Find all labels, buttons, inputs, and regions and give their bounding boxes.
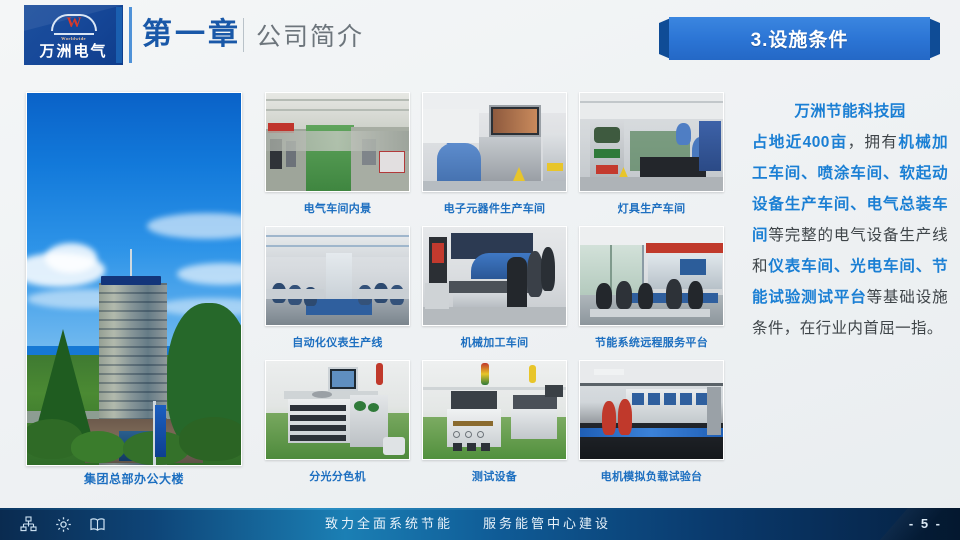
caption-motor-load-test-bench: 电机模拟负载试验台 (579, 468, 724, 484)
section-tab-body: 3.设施条件 (669, 17, 930, 60)
caption-remote-service-platform: 节能系统远程服务平台 (579, 334, 724, 350)
footer-slogan-left: 致力全面系统节能 (325, 508, 453, 540)
footer-top-stripe (0, 508, 960, 510)
page-subtitle: 公司简介 (256, 16, 364, 58)
body-paragraph: 万洲节能科技园占地近400亩，拥有机械加工车间、喷涂车间、软起动设备生产车间、电… (752, 96, 948, 486)
photo-automated-instrument-line (265, 226, 410, 326)
caption-spectrophotometer: 分光分色机 (265, 468, 410, 484)
section-tab: 3.设施条件 (659, 17, 940, 60)
caption-lighting-workshop: 灯具生产车间 (579, 200, 724, 216)
body-lead-line: 万洲节能科技园 (752, 96, 948, 127)
photo-motor-load-test-bench (579, 360, 724, 460)
photo-electrical-workshop (265, 92, 410, 192)
photo-lighting-workshop (579, 92, 724, 192)
caption-test-equipment: 测试设备 (422, 468, 567, 484)
photo-spectrophotometer (265, 360, 410, 460)
company-logo: W Worldwide 万洲电气 (24, 5, 123, 65)
gear-icon[interactable] (55, 516, 72, 533)
body-seg-1: ，拥有 (848, 134, 899, 151)
slide-footer: 致力全面系统节能 服务能管中心建设 - 5 - (0, 508, 960, 540)
photo-test-equipment (422, 360, 567, 460)
header-divider (243, 18, 244, 52)
photo-electronic-components-workshop (422, 92, 567, 192)
logo-w-letter: W (51, 15, 97, 32)
chapter-title: 第一章 (142, 13, 241, 57)
logo-company-name: 万洲电气 (39, 44, 107, 59)
caption-electronic-components-workshop: 电子元器件生产车间 (422, 200, 567, 216)
photo-machining-workshop (422, 226, 567, 326)
body-seg-0: 占地近400亩 (752, 134, 848, 151)
caption-headquarters-building: 集团总部办公大楼 (26, 470, 242, 487)
header-accent-bar-thin (129, 7, 132, 63)
caption-automated-instrument-line: 自动化仪表生产线 (265, 334, 410, 350)
book-icon[interactable] (89, 516, 106, 533)
caption-machining-workshop: 机械加工车间 (422, 334, 567, 350)
section-tab-label: 3.设施条件 (751, 25, 849, 52)
photo-headquarters-building (26, 92, 242, 466)
page-number: - 5 - (909, 508, 942, 540)
footer-slogan-right: 服务能管中心建设 (483, 508, 611, 540)
header-accent-bar-thick (116, 7, 122, 63)
photo-remote-service-platform (579, 226, 724, 326)
sitemap-icon[interactable] (20, 516, 37, 533)
slide-root: W Worldwide 万洲电气 第一章 公司简介 3.设施条件 (0, 0, 960, 540)
caption-electrical-workshop: 电气车间内景 (265, 200, 410, 216)
slide-header: W Worldwide 万洲电气 第一章 公司简介 3.设施条件 (0, 0, 960, 76)
logo-emblem-icon: W (51, 14, 97, 34)
logo-subtext: Worldwide (61, 36, 86, 41)
